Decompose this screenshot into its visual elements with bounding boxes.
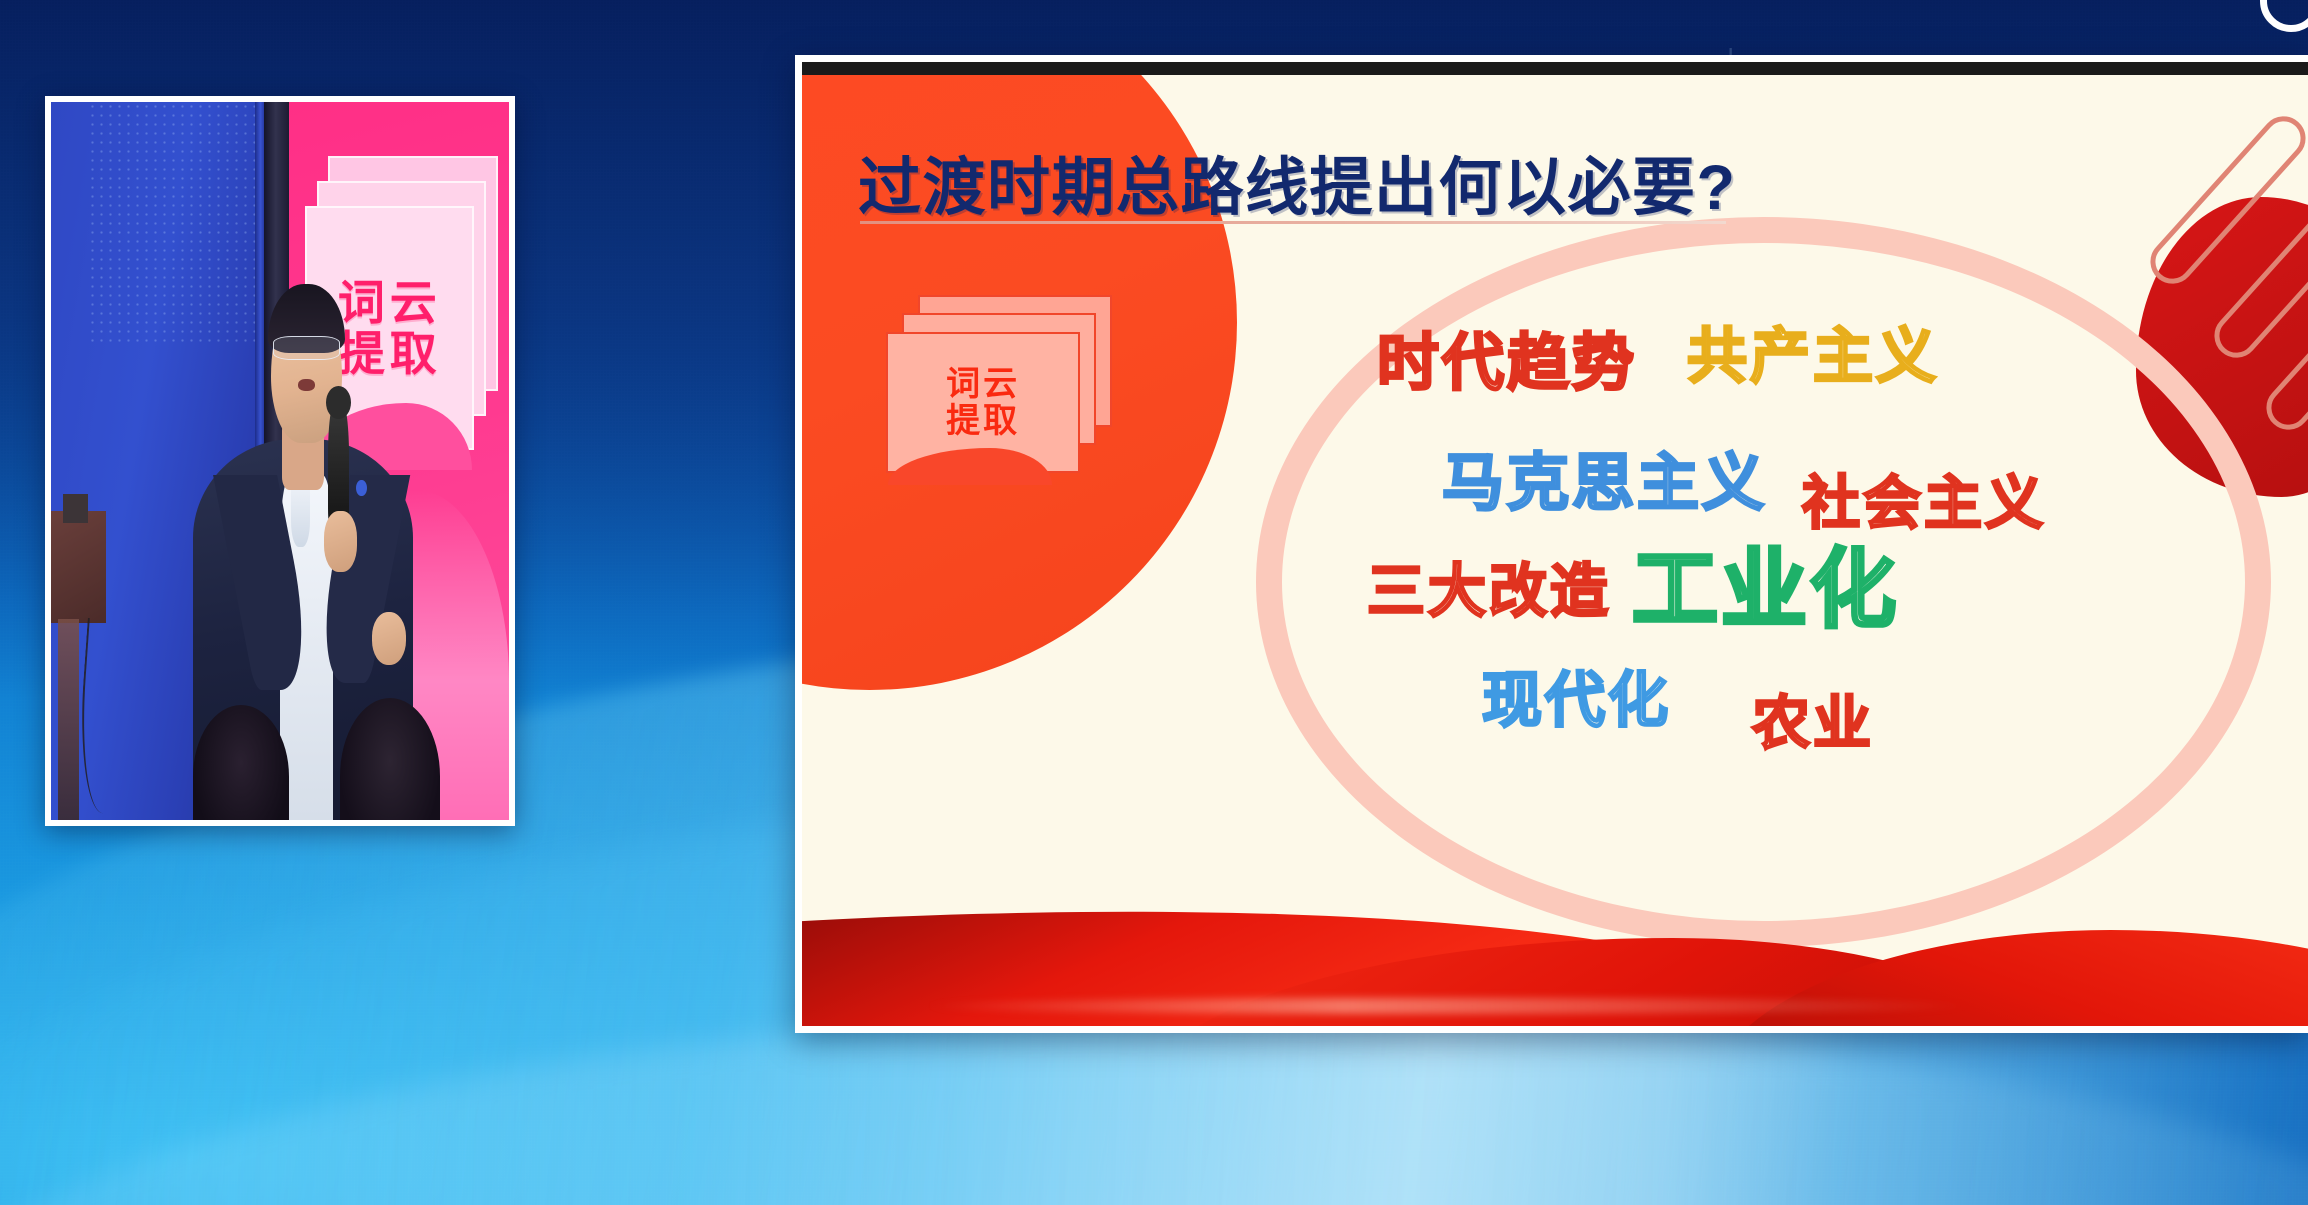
word-cloud-term: 工业化 bbox=[1632, 547, 1899, 633]
presentation-slide: 过渡时期总路线提出何以必要? 词云 提取 时代趋势共产主义马克思主义社会主义三大… bbox=[802, 75, 2308, 1026]
podium-top bbox=[63, 494, 88, 523]
speaker-hand-free bbox=[372, 612, 407, 665]
slide-red-silk-waves bbox=[802, 806, 2308, 1026]
stage-card-label-line2: 提取 bbox=[338, 330, 442, 377]
podium bbox=[51, 511, 106, 622]
slide-top-bezel bbox=[802, 62, 2308, 75]
speaker-mouth bbox=[298, 379, 314, 391]
word-cloud-term: 社会主义 bbox=[1802, 475, 2046, 533]
word-cloud-term: 时代趋势 bbox=[1377, 333, 1637, 395]
speaker-collar bbox=[291, 483, 310, 548]
speaker-video-panel[interactable]: 词云 提取 bbox=[45, 96, 515, 826]
speaker-glasses bbox=[273, 336, 340, 360]
word-cloud-term: 三大改造 bbox=[1367, 563, 1611, 621]
word-cloud-term: 共产主义 bbox=[1687, 327, 1939, 387]
speaker-hand-mic bbox=[324, 511, 357, 571]
word-cloud-term: 农业 bbox=[1752, 695, 1874, 753]
video-frame: 词云 提取 bbox=[51, 102, 509, 820]
word-cloud-term: 马克思主义 bbox=[1442, 453, 1767, 515]
stage-wall-dots bbox=[88, 102, 262, 346]
presentation-slide-frame[interactable]: 过渡时期总路线提出何以必要? 词云 提取 时代趋势共产主义马克思主义社会主义三大… bbox=[795, 55, 2308, 1033]
stage-card-label-line1: 词云 bbox=[338, 279, 442, 326]
speaker-lapel-pin bbox=[356, 480, 367, 497]
word-cloud-term: 现代化 bbox=[1482, 671, 1671, 731]
podium-leg bbox=[58, 619, 79, 820]
silk-highlight bbox=[922, 998, 1976, 1014]
